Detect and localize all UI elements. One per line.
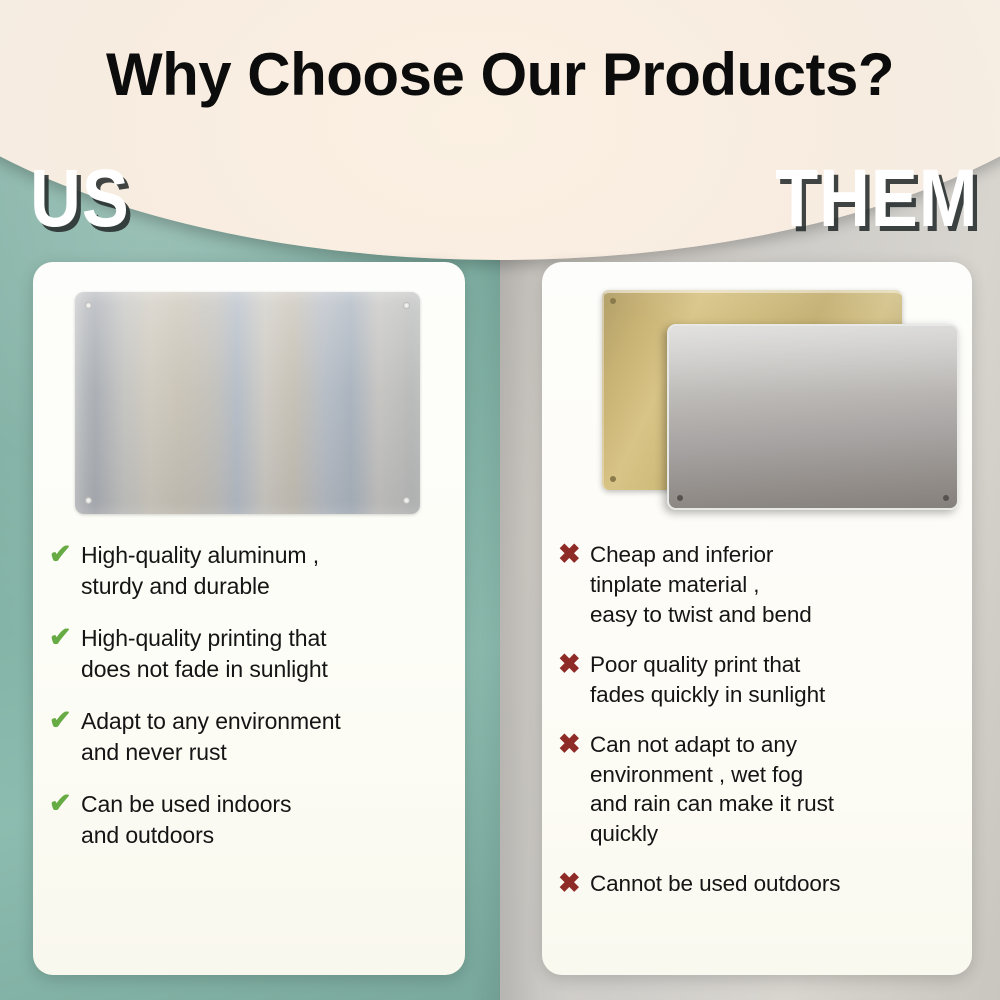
cross-icon: ✖: [556, 730, 590, 759]
list-item: ✖ Cheap and inferior tinplate material ,…: [556, 540, 958, 630]
aluminum-plate-image: [75, 292, 420, 514]
screw-hole-icon: [943, 495, 949, 501]
check-icon: ✔: [47, 706, 81, 735]
column-heading-them: THEM: [775, 158, 978, 240]
column-heading-us: US: [30, 158, 130, 240]
cross-icon: ✖: [556, 650, 590, 679]
us-card: ✔ High-quality aluminum , sturdy and dur…: [33, 262, 465, 975]
grey-tinplate-image: [667, 324, 959, 510]
list-item-label: Can be used indoors and outdoors: [81, 789, 291, 850]
list-item: ✖ Poor quality print that fades quickly …: [556, 650, 958, 710]
screw-hole-icon: [677, 495, 683, 501]
list-item-label: Cheap and inferior tinplate material , e…: [590, 540, 812, 630]
page-title: Why Choose Our Products?: [0, 40, 1000, 109]
list-item: ✔ Adapt to any environment and never rus…: [47, 706, 451, 767]
screw-hole-icon: [403, 497, 410, 504]
screw-hole-icon: [403, 302, 410, 309]
list-item: ✖ Can not adapt to any environment , wet…: [556, 730, 958, 850]
comparison-poster: Why Choose Our Products? US THEM ✔ High-…: [0, 0, 1000, 1000]
cross-icon: ✖: [556, 540, 590, 569]
list-item-label: High-quality printing that does not fade…: [81, 623, 328, 684]
check-icon: ✔: [47, 789, 81, 818]
list-item: ✖ Cannot be used outdoors: [556, 869, 958, 899]
them-product-photo: [542, 262, 972, 530]
list-item: ✔ High-quality aluminum , sturdy and dur…: [47, 540, 451, 601]
screw-hole-icon: [610, 298, 616, 304]
list-item: ✔ Can be used indoors and outdoors: [47, 789, 451, 850]
check-icon: ✔: [47, 623, 81, 652]
screw-hole-icon: [85, 302, 92, 309]
list-item-label: Can not adapt to any environment , wet f…: [590, 730, 834, 850]
list-item-label: Adapt to any environment and never rust: [81, 706, 341, 767]
list-item-label: Cannot be used outdoors: [590, 869, 840, 899]
us-benefit-list: ✔ High-quality aluminum , sturdy and dur…: [33, 530, 465, 851]
cross-icon: ✖: [556, 869, 590, 898]
list-item-label: Poor quality print that fades quickly in…: [590, 650, 825, 710]
screw-hole-icon: [85, 497, 92, 504]
list-item-label: High-quality aluminum , sturdy and durab…: [81, 540, 319, 601]
screw-hole-icon: [610, 476, 616, 482]
check-icon: ✔: [47, 540, 81, 569]
them-card: ✖ Cheap and inferior tinplate material ,…: [542, 262, 972, 975]
them-drawback-list: ✖ Cheap and inferior tinplate material ,…: [542, 530, 972, 899]
list-item: ✔ High-quality printing that does not fa…: [47, 623, 451, 684]
us-product-photo: [33, 262, 465, 530]
